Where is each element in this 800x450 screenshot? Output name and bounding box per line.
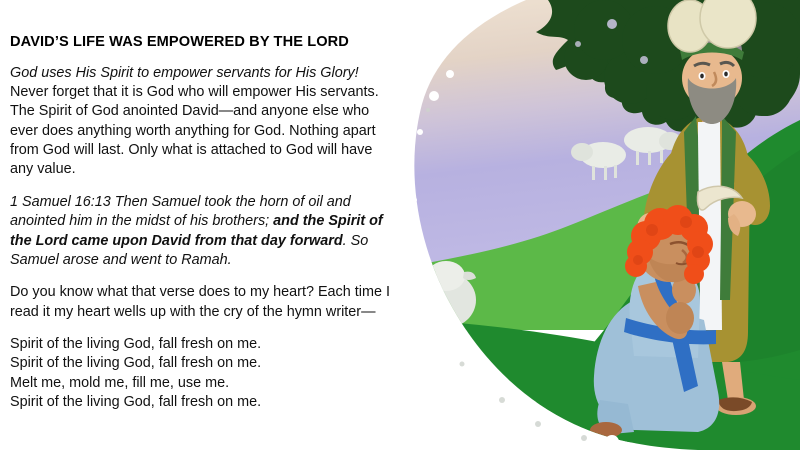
paragraph-intro: God uses His Spirit to empower servants … — [10, 64, 394, 180]
paragraph-reflection: Do you know what that verse does to my h… — [10, 283, 394, 322]
hymn-lines: Spirit of the living God, fall fresh on … — [10, 335, 394, 413]
david-foot — [590, 422, 622, 438]
intro-body: Never forget that it is God who will emp… — [10, 84, 379, 178]
hymn-line: Spirit of the living God, fall fresh on … — [10, 335, 394, 354]
text-column: DAVID’S LIFE WAS EMPOWERED BY THE LORD G… — [10, 34, 394, 413]
scripture-quote: 1 Samuel 16:13 Then Samuel took the horn… — [10, 193, 394, 271]
hymn-line: Melt me, mold me, fill me, use me. — [10, 374, 394, 393]
sheep-foreground — [416, 261, 476, 348]
page-title: DAVID’S LIFE WAS EMPOWERED BY THE LORD — [10, 34, 394, 52]
hymn-line: Spirit of the living God, fall fresh on … — [10, 354, 394, 373]
illustration-canvas — [398, 0, 800, 450]
slide: DAVID’S LIFE WAS EMPOWERED BY THE LORD G… — [0, 0, 800, 450]
intro-lead-sentence: God uses His Spirit to empower servants … — [10, 65, 359, 81]
hymn-line: Spirit of the living God, fall fresh on … — [10, 393, 394, 412]
illustration-samuel-anoints-david — [398, 0, 800, 450]
